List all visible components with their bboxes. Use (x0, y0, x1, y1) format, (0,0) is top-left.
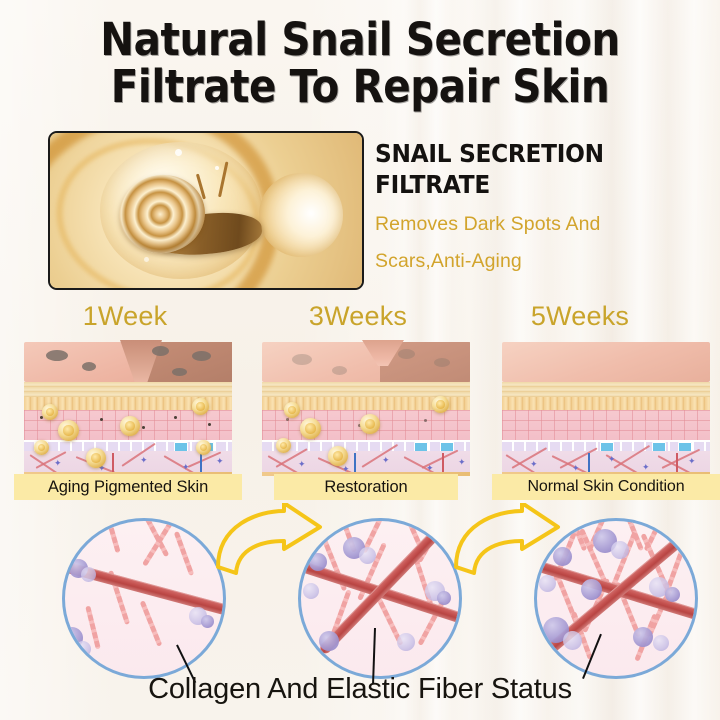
collagen-fiber-circles (0, 518, 720, 678)
droplet-highlight-2 (215, 166, 219, 170)
skin-stage-2: ✦ ✦ ✦ ✦ ✦ Restoration (252, 336, 480, 506)
dermis-layer: ✦ ✦ ✦ ✦ ✦ (502, 451, 710, 474)
brand-benefit-line-1: Removes Dark Spots And (375, 206, 705, 243)
epidermis-layer (24, 382, 232, 397)
serum-bead (34, 440, 49, 455)
serum-bead (192, 398, 209, 415)
page-title-line-2: Filtrate To Repair Skin (36, 63, 684, 110)
infographic-page: Natural Snail Secretion Filtrate To Repa… (0, 0, 720, 720)
skin-stage-1: ✦ ✦ ✦ ✦ ✦ Aging Pigmented Skin (14, 336, 242, 506)
faded-spot (398, 349, 415, 359)
fiber-circle-sparse (62, 518, 226, 679)
stage-caption-bar-1: Aging Pigmented Skin (14, 474, 242, 500)
skin-stage-3: ✦ ✦ ✦ ✦ ✦ Normal Skin Condition (492, 336, 720, 506)
dark-spot (172, 368, 187, 376)
stage-caption-bar-2: Restoration (274, 474, 458, 500)
serum-bead (196, 440, 211, 455)
skin-cross-section-restoring: ✦ ✦ ✦ ✦ ✦ (262, 342, 470, 474)
brand-title-line-2: FILTRATE (375, 169, 682, 200)
week-label-2: 3Weeks (258, 300, 458, 332)
stage-caption-bar-3: Normal Skin Condition (492, 474, 720, 500)
faded-spot (332, 366, 347, 375)
dermis-layer: ✦ ✦ ✦ ✦ ✦ (262, 451, 470, 474)
serum-bead (58, 420, 79, 441)
page-title-line-1: Natural Snail Secretion (36, 16, 684, 63)
fibre-layer (502, 397, 710, 410)
dark-spot (46, 350, 68, 361)
faded-spot (292, 354, 312, 365)
snail-serum-photo (48, 131, 364, 290)
timeline-week-labels: 1Week 3Weeks 5Weeks (0, 300, 720, 334)
brand-title-line-1: SNAIL SECRETION (375, 138, 682, 169)
serum-bead (432, 396, 449, 413)
skin-cross-section-normal: ✦ ✦ ✦ ✦ ✦ (502, 342, 710, 474)
serum-bead (360, 414, 380, 434)
serum-bead (42, 404, 58, 420)
fiber-section-caption: Collagen And Elastic Fiber Status (0, 672, 720, 706)
serum-bead (284, 402, 300, 418)
serum-bubble (259, 173, 343, 257)
serum-bead (276, 438, 291, 453)
serum-bead (328, 446, 348, 466)
stage-caption-3: Normal Skin Condition (492, 478, 720, 496)
skin-cross-section-aging: ✦ ✦ ✦ ✦ ✦ (24, 342, 232, 474)
brand-text-block: SNAIL SECRETION FILTRATE Removes Dark Sp… (375, 138, 705, 280)
skin-diagram-row: ✦ ✦ ✦ ✦ ✦ Aging Pigmented Skin (0, 336, 720, 506)
serum-bead (120, 416, 140, 436)
progress-arrow-1-icon (214, 503, 324, 580)
stage-caption-2: Restoration (274, 478, 458, 497)
cellular-layer (502, 410, 710, 440)
page-title: Natural Snail Secretion Filtrate To Repa… (0, 16, 720, 110)
stage-caption-1: Aging Pigmented Skin (14, 478, 242, 497)
epidermis-layer (502, 382, 710, 397)
serum-bead (86, 448, 106, 468)
progress-arrow-2-icon (452, 503, 562, 580)
dark-spot (82, 362, 96, 371)
droplet-highlight-1 (175, 149, 182, 156)
dark-spot (152, 346, 169, 356)
serum-bead (300, 418, 321, 439)
fiber-section-caption-text: Collagen And Elastic Fiber Status (148, 673, 572, 705)
epidermis-surface (502, 342, 710, 382)
brand-benefit-line-2: Scars,Anti-Aging (375, 243, 705, 280)
faded-spot (434, 358, 450, 367)
epidermis-layer (262, 382, 470, 397)
droplet-highlight-3 (144, 257, 149, 262)
dark-spot (192, 351, 211, 361)
week-label-3: 5Weeks (480, 300, 680, 332)
week-label-1: 1Week (25, 300, 225, 332)
